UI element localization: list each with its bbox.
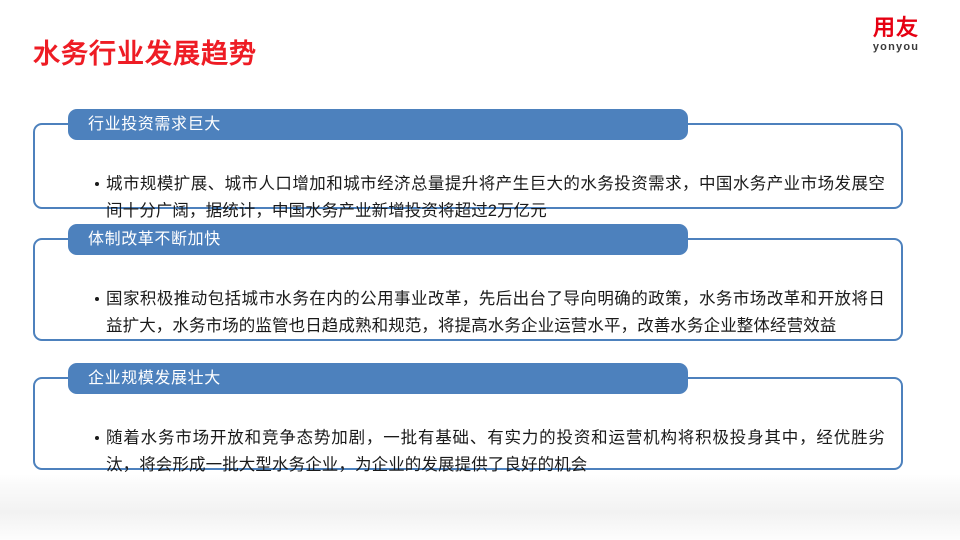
list-item: 随着水务市场开放和竞争态势加剧，一批有基础、有实力的投资和运营机构将积极投身其中… (95, 425, 885, 479)
content-block-3-body: 随着水务市场开放和竞争态势加剧，一批有基础、有实力的投资和运营机构将积极投身其中… (33, 408, 903, 495)
brand-logo: 用友 yonyou (857, 17, 935, 53)
bullet-dot-icon (95, 436, 99, 440)
page-title: 水务行业发展趋势 (33, 37, 257, 71)
content-block-1-header-label: 行业投资需求巨大 (88, 116, 221, 134)
content-block-2-body: 国家积极推动包括城市水务在内的公用事业改革，先后出台了导向明确的政策，水务市场改… (33, 269, 903, 356)
list-item: 城市规模扩展、城市人口增加和城市经济总量提升将产生巨大的水务投资需求，中国水务产… (95, 171, 885, 225)
content-block-2-bullet-text: 国家积极推动包括城市水务在内的公用事业改革，先后出台了导向明确的政策，水务市场改… (106, 290, 885, 335)
list-item: 国家积极推动包括城市水务在内的公用事业改革，先后出台了导向明确的政策，水务市场改… (95, 286, 885, 340)
content-block-1: 行业投资需求巨大 城市规模扩展、城市人口增加和城市经济总量提升将产生巨大的水务投… (33, 109, 903, 209)
content-block-1-bullet-text: 城市规模扩展、城市人口增加和城市经济总量提升将产生巨大的水务投资需求，中国水务产… (106, 175, 885, 220)
content-block-3-header-label: 企业规模发展壮大 (88, 370, 221, 388)
content-block-3: 企业规模发展壮大 随着水务市场开放和竞争态势加剧，一批有基础、有实力的投资和运营… (33, 363, 903, 470)
brand-logo-en-text: yonyou (857, 41, 935, 53)
bullet-dot-icon (95, 182, 99, 186)
content-block-2-header-label: 体制改革不断加快 (88, 231, 221, 249)
slide-canvas: 水务行业发展趋势 用友 yonyou 行业投资需求巨大 城市规模扩展、城市人口增… (0, 0, 960, 540)
content-block-3-header[interactable]: 企业规模发展壮大 (68, 363, 688, 394)
content-block-2: 体制改革不断加快 国家积极推动包括城市水务在内的公用事业改革，先后出台了导向明确… (33, 224, 903, 341)
content-block-1-header[interactable]: 行业投资需求巨大 (68, 109, 688, 140)
bullet-dot-icon (95, 297, 99, 301)
content-block-3-bullet-text: 随着水务市场开放和竞争态势加剧，一批有基础、有实力的投资和运营机构将积极投身其中… (106, 429, 885, 474)
content-block-2-header[interactable]: 体制改革不断加快 (68, 224, 688, 255)
brand-logo-cn-text: 用友 (857, 17, 935, 39)
